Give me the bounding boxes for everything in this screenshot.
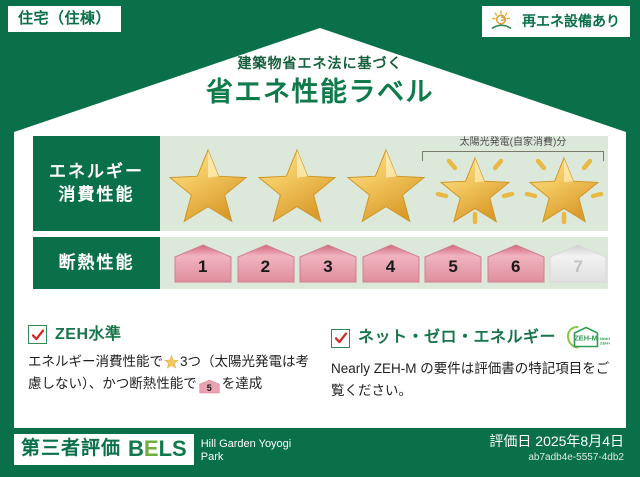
- performance-rows: エネルギー 消費性能 太陽光発電(自家消費)分: [33, 136, 608, 295]
- checkbox-checked: [331, 329, 350, 348]
- bels-logo: BELS: [128, 438, 187, 460]
- svg-text:ZEH-M: ZEH-M: [600, 340, 610, 345]
- insulation-grade-value: 2: [261, 258, 270, 284]
- energy-label-line1: エネルギー: [49, 161, 144, 184]
- star-item-solar: [519, 136, 608, 231]
- criteria-section: ZEH水準 エネルギー消費性能で3つ（太陽光発電は考慮しない）、かつ断熱性能で5…: [28, 325, 612, 402]
- insulation-grade-inline-value: 5: [199, 379, 220, 398]
- criterion-title: ネット・ゼロ・エネルギー: [358, 330, 556, 346]
- heading-subtitle: 建築物省エネ法に基づく: [0, 56, 640, 70]
- insulation-grade-value: 1: [198, 258, 207, 284]
- insulation-grade-value: 5: [448, 258, 457, 284]
- energy-label-line2: 消費性能: [59, 184, 135, 207]
- energy-performance-label: エネルギー 消費性能: [33, 136, 160, 231]
- third-party-eval-label: 第三者評価: [21, 439, 121, 458]
- check-icon: [334, 331, 348, 345]
- bels-badge: 第三者評価 BELS: [14, 434, 194, 465]
- renewable-energy-chip: 再エネ設備あり: [482, 6, 630, 37]
- checkbox-checked: [28, 325, 47, 344]
- building-name: Hill Garden Yoyogi Park: [201, 434, 313, 466]
- criterion-description: エネルギー消費性能で3つ（太陽光発電は考慮しない）、かつ断熱性能で5を達成: [28, 351, 309, 395]
- insulation-grade-badge: 4: [361, 243, 421, 284]
- star-item: [253, 136, 342, 231]
- building-type-chip: 住宅（住棟）: [8, 6, 121, 32]
- evaluation-id: ab7adb4e-5557-4db2: [489, 452, 624, 463]
- criterion-text-part1: エネルギー消費性能で: [28, 354, 163, 369]
- page-title: 省エネ性能ラベル: [0, 79, 640, 106]
- evaluation-date: 評価日 2025年8月4日: [489, 434, 624, 449]
- insulation-label-line1: 断熱性能: [59, 252, 135, 275]
- insulation-performance-label: 断熱性能: [33, 237, 160, 289]
- star-rating: [160, 136, 608, 231]
- svg-text:ZEH-M: ZEH-M: [574, 334, 597, 343]
- criterion-zeh-standard: ZEH水準 エネルギー消費性能で3つ（太陽光発電は考慮しない）、かつ断熱性能で5…: [28, 325, 309, 402]
- criterion-title: ZEH水準: [55, 327, 122, 343]
- insulation-grade-badge: 5: [423, 243, 483, 284]
- criterion-header: ZEH水準: [28, 325, 309, 344]
- criterion-header: ネット・ゼロ・エネルギー ZEH-M Nearly ZEH-M: [331, 325, 612, 351]
- criterion-net-zero-energy: ネット・ゼロ・エネルギー ZEH-M Nearly ZEH-M Nearly Z…: [331, 325, 612, 402]
- criterion-text-part3: を達成: [222, 376, 263, 391]
- energy-rating-area: 太陽光発電(自家消費)分: [160, 136, 608, 231]
- insulation-grade-badge: 6: [486, 243, 546, 284]
- energy-performance-label: 住宅（住棟） 再エネ設備あり 建築物省エネ法に基づく 省エネ性能ラベル: [0, 0, 640, 477]
- insulation-performance-row: 断熱性能: [33, 237, 608, 289]
- insulation-rating-area: 1 2 3: [160, 237, 608, 289]
- label-heading: 建築物省エネ法に基づく 省エネ性能ラベル: [0, 56, 640, 106]
- star-item-solar: [430, 136, 519, 231]
- footer-left: 第三者評価 BELS Hill Garden Yoyogi Park: [14, 434, 313, 466]
- zeh-m-logo-icon: ZEH-M Nearly ZEH-M: [564, 325, 610, 351]
- insulation-grade-value: 3: [323, 258, 332, 284]
- insulation-grade-badge: 3: [298, 243, 358, 284]
- insulation-grade-badge: 1: [173, 243, 233, 284]
- sun-icon: [490, 10, 516, 32]
- insulation-grade-value: 4: [386, 258, 395, 284]
- insulation-grade-inline-badge: 5: [199, 379, 220, 394]
- insulation-grade-badge: 2: [236, 243, 296, 284]
- star-item: [164, 136, 253, 231]
- insulation-grade-value: 6: [511, 258, 520, 284]
- star-item: [342, 136, 431, 231]
- insulation-grade-value: 7: [574, 258, 583, 284]
- criterion-description: Nearly ZEH-M の要件は評価書の特記項目をご覧ください。: [331, 358, 612, 402]
- insulation-grade-scale: 1 2 3: [160, 237, 608, 289]
- insulation-grade-badge-inactive: 7: [548, 243, 608, 284]
- star-icon: [164, 354, 179, 369]
- footer-right: 評価日 2025年8月4日 ab7adb4e-5557-4db2: [489, 434, 624, 463]
- check-icon: [31, 328, 45, 342]
- renewable-energy-label: 再エネ設備あり: [522, 14, 620, 28]
- energy-performance-row: エネルギー 消費性能 太陽光発電(自家消費)分: [33, 136, 608, 231]
